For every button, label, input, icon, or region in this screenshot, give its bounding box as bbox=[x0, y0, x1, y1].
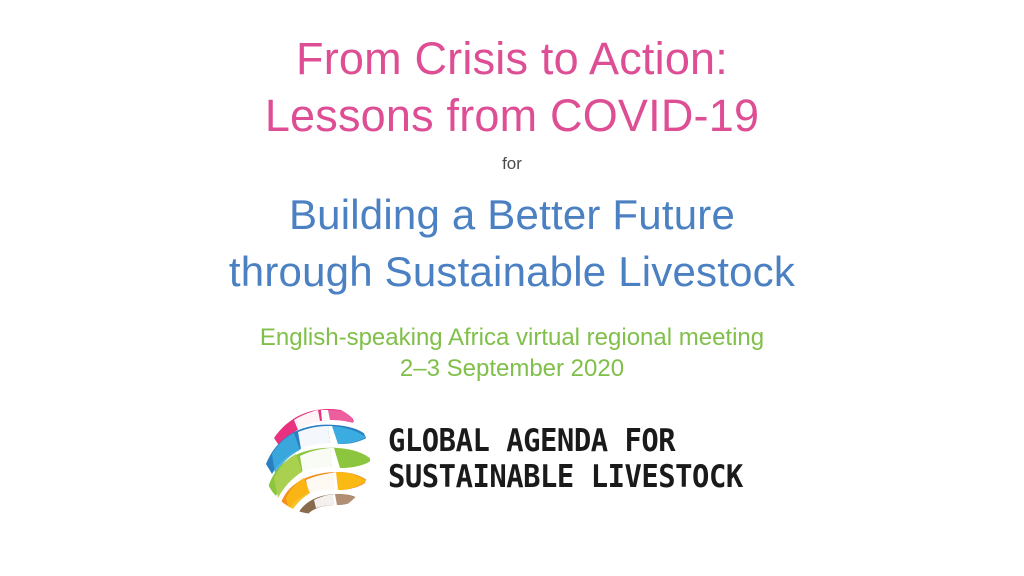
subtitle-line-2: 2–3 September 2020 bbox=[0, 353, 1024, 384]
logo-wordmark-line-1: GLOBAL AGENDA FOR bbox=[388, 423, 743, 459]
logo-wordmark-line-2: SUSTAINABLE LIVESTOCK bbox=[388, 459, 743, 495]
logo-band-brown bbox=[296, 494, 359, 517]
title-text-block: From Crisis to Action: Lessons from COVI… bbox=[0, 30, 1024, 384]
heading-line-2: through Sustainable Livestock bbox=[0, 243, 1024, 300]
logo-wordmark: GLOBAL AGENDA FOR SUSTAINABLE LIVESTOCK bbox=[388, 423, 769, 495]
main-title-line-2: Lessons from COVID-19 bbox=[0, 87, 1024, 144]
organization-logo: GLOBAL AGENDA FOR SUSTAINABLE LIVESTOCK bbox=[258, 400, 778, 518]
main-title-line-1: From Crisis to Action: bbox=[0, 30, 1024, 87]
title-slide: From Crisis to Action: Lessons from COVI… bbox=[0, 0, 1024, 576]
heading-line-1: Building a Better Future bbox=[0, 186, 1024, 243]
globe-sphere-icon bbox=[258, 402, 376, 517]
subtitle-line-1: English-speaking Africa virtual regional… bbox=[0, 322, 1024, 353]
connector-text: for bbox=[0, 148, 1024, 180]
